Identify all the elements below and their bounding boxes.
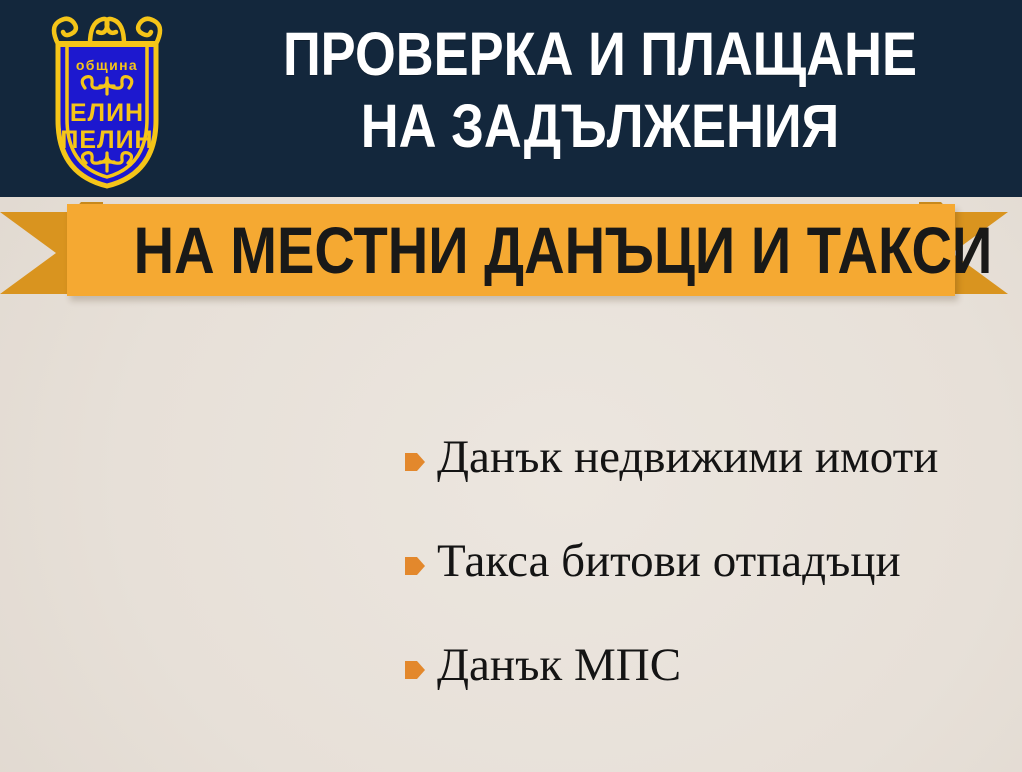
municipality-crest: община ЕЛИН ПЕЛИН	[28, 8, 186, 190]
arrow-bullet-icon	[404, 450, 426, 474]
list-item-label: Такса битови отпадъци	[437, 528, 901, 594]
crest-top-label: община	[76, 57, 138, 73]
stamp-card-property	[13, 312, 223, 518]
header-banner: община ЕЛИН ПЕЛИН ПРОВЕРКА И ПЛ	[0, 0, 1022, 197]
arrow-bullet-icon	[404, 554, 426, 578]
page-title-line-2: НА ЗАДЪЛЖЕНИЯ	[247, 90, 952, 162]
subtitle-ribbon: НА МЕСТНИ ДАНЪЦИ И ТАКСИ	[0, 196, 1022, 306]
crest-name-line1: ЕЛИН	[70, 99, 144, 127]
list-item[interactable]: Данък МПС	[398, 632, 1008, 736]
crest-name-line2: ПЕЛИН	[60, 126, 153, 154]
tax-type-list: Данък недвижими имоти Такса битови отпад…	[398, 424, 1008, 736]
list-item[interactable]: Данък недвижими имоти	[398, 424, 1008, 528]
ribbon-band: НА МЕСТНИ ДАНЪЦИ И ТАКСИ	[67, 204, 955, 296]
stamp-card-vehicle	[83, 513, 342, 772]
list-item-label: Данък недвижими имоти	[437, 424, 938, 490]
arrow-bullet-icon	[404, 658, 426, 682]
ribbon-label: НА МЕСТНИ ДАНЪЦИ И ТАКСИ	[134, 210, 889, 290]
page-title-line-1: ПРОВЕРКА И ПЛАЩАНЕ	[247, 18, 952, 90]
page-title: ПРОВЕРКА И ПЛАЩАНЕ НА ЗАДЪЛЖЕНИЯ	[247, 18, 952, 162]
list-item-label: Данък МПС	[437, 632, 681, 698]
list-item[interactable]: Такса битови отпадъци	[398, 528, 1008, 632]
poster-root: община ЕЛИН ПЕЛИН ПРОВЕРКА И ПЛ	[0, 0, 1022, 772]
